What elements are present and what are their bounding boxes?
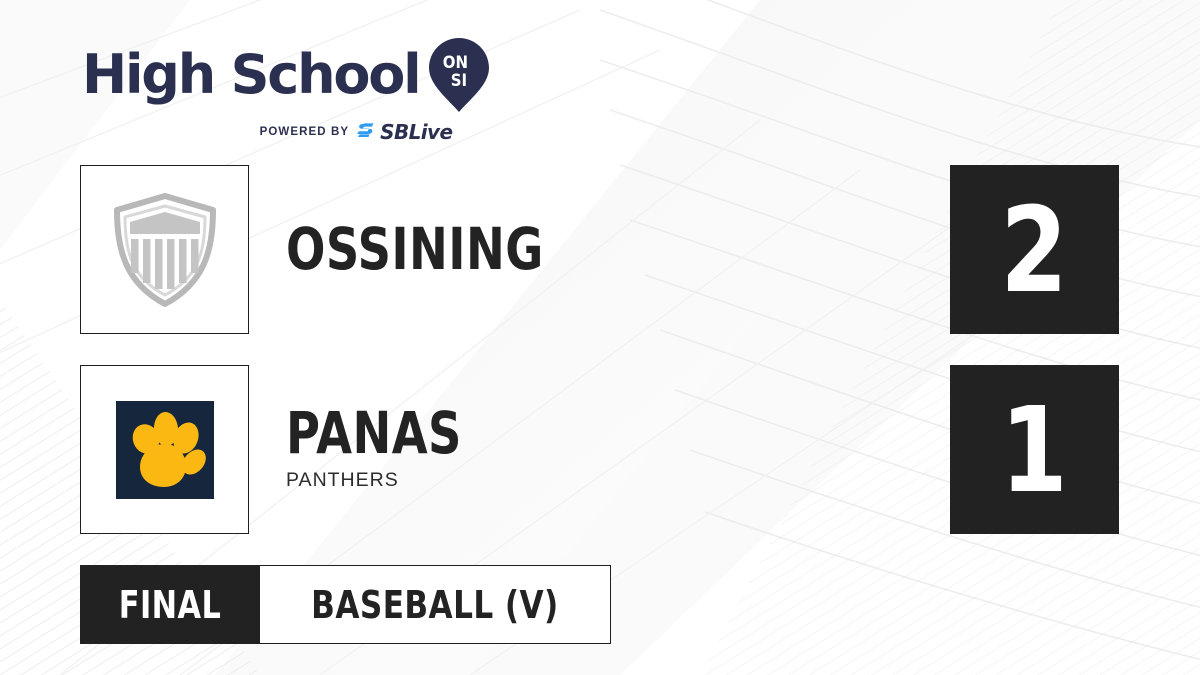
powered-by-label: POWERED BY — [260, 126, 350, 138]
team-mascot: PANTHERS — [286, 469, 506, 492]
sblive-wordmark: SBLive — [380, 122, 452, 142]
team-name: PANAS — [286, 407, 462, 460]
team-info: OSSINING — [286, 223, 608, 276]
game-state-label: FINAL — [119, 586, 221, 624]
brand-wordmark: High School — [82, 48, 419, 102]
game-state-badge: FINAL — [80, 565, 260, 644]
sport-label: BASEBALL (V) — [311, 586, 559, 624]
game-status-bar: FINAL BASEBALL (V) — [80, 565, 611, 644]
panther-paw-icon — [116, 401, 214, 499]
team-row: PANAS PANTHERS — [80, 365, 506, 534]
on-si-pin-icon: ON SI — [429, 38, 489, 112]
powered-by-row: POWERED BY SBLive — [200, 121, 512, 142]
team-logo-card — [80, 165, 249, 334]
sport-label-box: BASEBALL (V) — [260, 565, 611, 644]
team-score-box: 2 — [950, 165, 1119, 334]
team-row: OSSINING — [80, 165, 608, 334]
team-score: 1 — [1001, 391, 1068, 509]
team-logo-card — [80, 365, 249, 534]
shield-placeholder-icon — [110, 191, 220, 309]
brand-header: High School ON SI POWERED BY — [82, 38, 512, 142]
sblive-logo: SBLive — [356, 121, 452, 142]
sblive-mark-icon — [356, 121, 377, 142]
team-name: OSSINING — [286, 223, 544, 276]
svg-text:SI: SI — [451, 70, 467, 90]
team-score: 2 — [1001, 191, 1068, 309]
team-info: PANAS PANTHERS — [286, 407, 506, 492]
team-score-box: 1 — [950, 365, 1119, 534]
